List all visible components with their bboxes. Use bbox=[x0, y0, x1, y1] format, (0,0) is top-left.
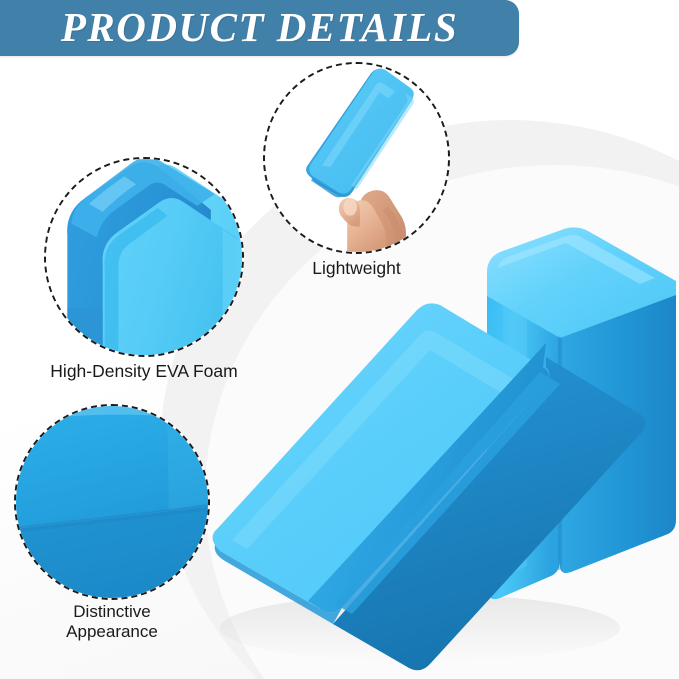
callout-label-high-density-eva-foam: High-Density EVA Foam bbox=[22, 361, 266, 381]
callout-circle-foam bbox=[44, 157, 244, 357]
callout-circle-lightweight bbox=[263, 62, 450, 254]
callout-label-lightweight: Lightweight bbox=[263, 258, 450, 278]
header-banner: PRODUCT DETAILS bbox=[0, 0, 519, 56]
hand-holding-block-icon bbox=[265, 64, 448, 252]
foam-corner-closeup-icon bbox=[44, 157, 244, 357]
rear-upright-block bbox=[487, 227, 676, 599]
callout-high-density-eva-foam: High-Density EVA Foam bbox=[44, 157, 244, 357]
product-details-graphic: PRODUCT DETAILS bbox=[0, 0, 679, 679]
callout-label-distinctive-appearance: Distinctive Appearance bbox=[4, 602, 220, 641]
callout-lightweight: Lightweight bbox=[263, 62, 450, 254]
page-title: PRODUCT DETAILS bbox=[47, 7, 458, 50]
callout-distinctive-appearance: Distinctive Appearance bbox=[14, 404, 210, 600]
callout-circle-appearance bbox=[14, 404, 210, 600]
front-tilted-block bbox=[213, 303, 646, 670]
block-surface-closeup-icon bbox=[14, 404, 210, 600]
